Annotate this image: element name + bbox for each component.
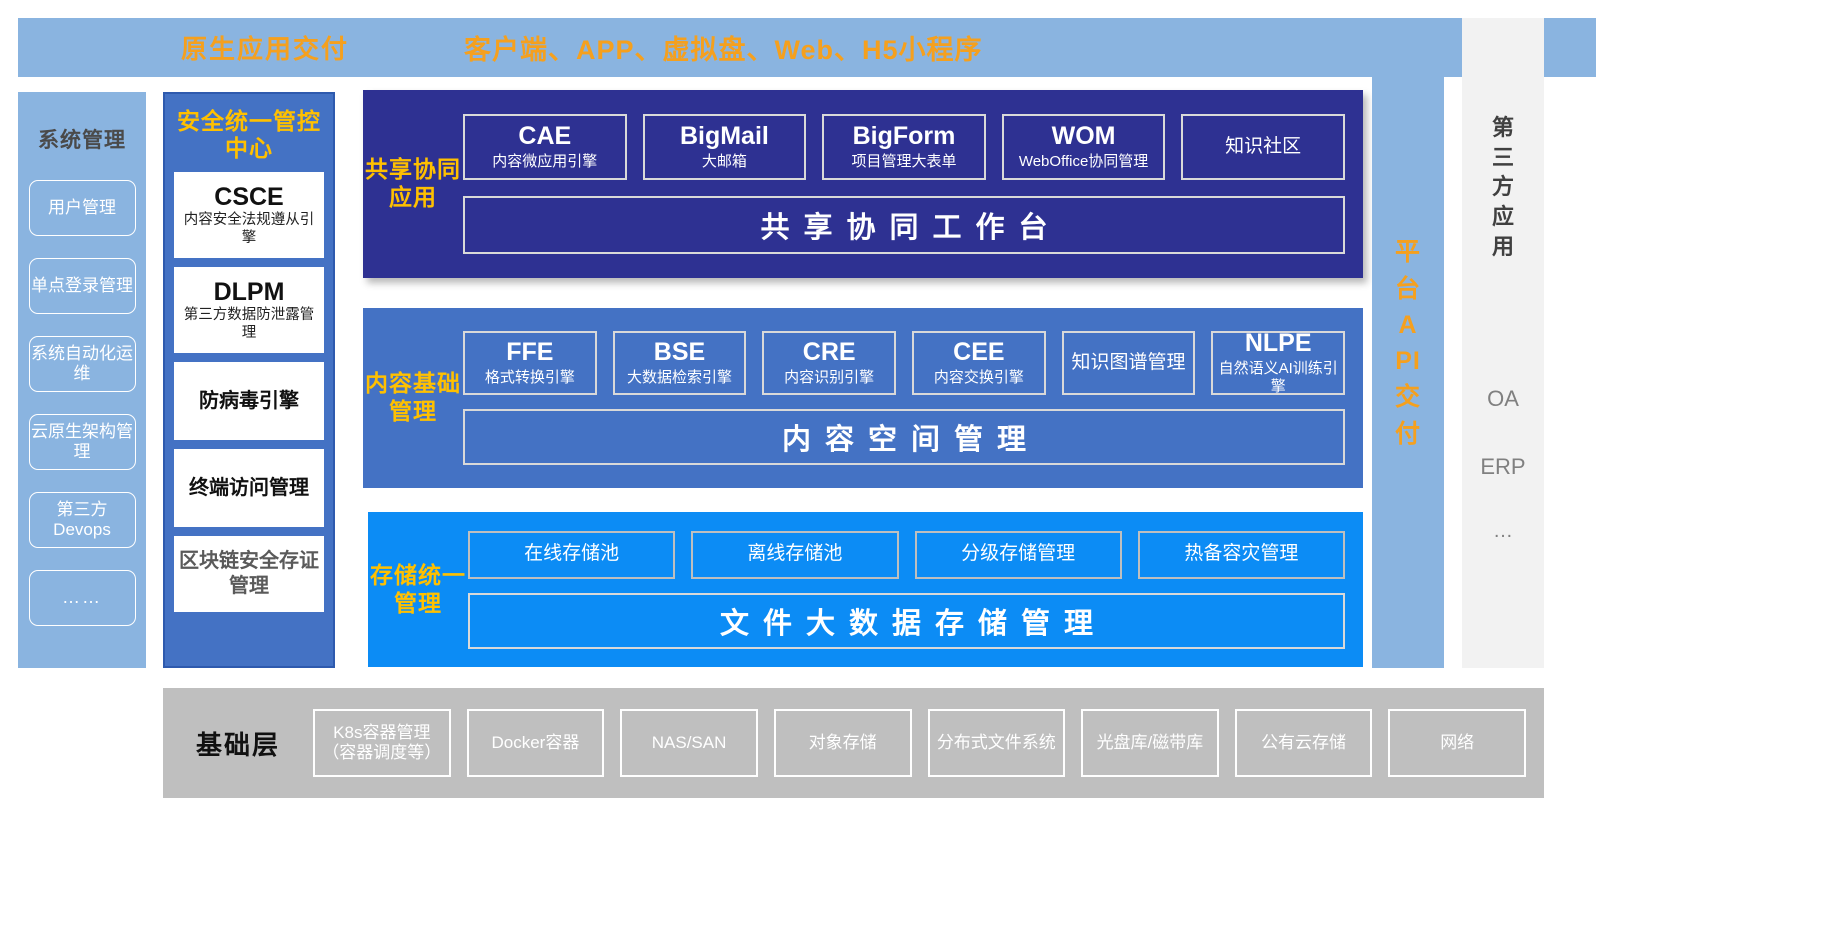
- third-party-item-more: …: [1493, 520, 1513, 543]
- system-management-column: 系统管理 用户管理 单点登录管理 系统自动化运维 云原生架构管理 第三方Devo…: [18, 92, 146, 668]
- infrastructure-chip-row: K8s容器管理（容器调度等） Docker容器 NAS/SAN 对象存储 分布式…: [313, 709, 1544, 777]
- third-party-column: 第三方应用 OA ERP …: [1462, 18, 1544, 668]
- sysmgmt-item-user[interactable]: 用户管理: [29, 180, 136, 236]
- chip-nlpe[interactable]: NLPE 自然语义AI训练引擎: [1211, 331, 1345, 395]
- shared-collaboration-layer: 共享协同应用 CAE 内容微应用引擎 BigMail 大邮箱 BigForm 项…: [363, 90, 1363, 278]
- chip-cae-desc: 内容微应用引擎: [492, 153, 597, 171]
- chip-ffe-code: FFE: [506, 339, 553, 367]
- infrastructure-row: 基础层 K8s容器管理（容器调度等） Docker容器 NAS/SAN 对象存储…: [163, 688, 1544, 798]
- chip-ffe[interactable]: FFE 格式转换引擎: [463, 331, 597, 395]
- content-foundation-layer: 内容基础管理 FFE 格式转换引擎 BSE 大数据检索引擎 CRE 内容识别引擎…: [363, 308, 1363, 488]
- chip-bigform-code: BigForm: [853, 123, 956, 151]
- security-control-title: 安全统一管控中心: [174, 108, 324, 162]
- chip-knowledge-community[interactable]: 知识社区: [1181, 114, 1345, 180]
- infra-chip-docker[interactable]: Docker容器: [467, 709, 605, 777]
- infra-chip-network[interactable]: 网络: [1388, 709, 1526, 777]
- chip-bigmail-code: BigMail: [680, 123, 769, 151]
- third-party-item-oa: OA: [1487, 386, 1519, 412]
- chip-cee-code: CEE: [953, 339, 1004, 367]
- platform-api-label: 平台API交付: [1391, 234, 1425, 452]
- content-foundation-label: 内容基础管理: [363, 308, 463, 488]
- chip-cae[interactable]: CAE 内容微应用引擎: [463, 114, 627, 180]
- chip-hot-standby-dr-label: 热备容灾管理: [1184, 543, 1298, 566]
- chip-offline-storage-pool-label: 离线存储池: [747, 543, 842, 566]
- chip-cre[interactable]: CRE 内容识别引擎: [762, 331, 896, 395]
- file-bigdata-storage-bar[interactable]: 文件大数据存储管理: [468, 593, 1345, 649]
- security-card-csce-desc: 内容安全法规遵从引擎: [178, 212, 320, 247]
- security-card-terminal-access-label: 终端访问管理: [189, 476, 309, 501]
- platform-api-column: 平台API交付: [1372, 18, 1444, 668]
- chip-online-storage-pool-label: 在线存储池: [524, 543, 619, 566]
- shared-collaboration-chip-row: CAE 内容微应用引擎 BigMail 大邮箱 BigForm 项目管理大表单 …: [463, 114, 1345, 180]
- security-card-dlpm-code: DLPM: [214, 279, 285, 307]
- infra-chip-object-storage[interactable]: 对象存储: [774, 709, 912, 777]
- delivery-channels: 客户端、APP、虚拟盘、Web、H5小程序: [464, 28, 983, 67]
- chip-cae-code: CAE: [518, 123, 571, 151]
- chip-bse-desc: 大数据检索引擎: [627, 369, 732, 387]
- security-card-dlpm[interactable]: DLPM 第三方数据防泄露管理: [174, 267, 324, 353]
- chip-nlpe-code: NLPE: [1245, 330, 1312, 358]
- infrastructure-title: 基础层: [163, 725, 313, 762]
- chip-cee-desc: 内容交换引擎: [934, 369, 1024, 387]
- third-party-title: 第三方应用: [1490, 113, 1516, 261]
- content-space-management-bar[interactable]: 内容空间管理: [463, 409, 1345, 465]
- security-card-blockchain[interactable]: 区块链安全存证管理: [174, 536, 324, 612]
- chip-bigmail-desc: 大邮箱: [702, 153, 747, 171]
- chip-bigform[interactable]: BigForm 项目管理大表单: [822, 114, 986, 180]
- chip-nlpe-desc: 自然语义AI训练引擎: [1216, 360, 1340, 396]
- sysmgmt-item-sso[interactable]: 单点登录管理: [29, 258, 136, 314]
- chip-tiered-storage[interactable]: 分级存储管理: [915, 531, 1122, 579]
- chip-online-storage-pool[interactable]: 在线存储池: [468, 531, 675, 579]
- system-management-title: 系统管理: [38, 124, 126, 154]
- security-card-terminal-access[interactable]: 终端访问管理: [174, 449, 324, 527]
- third-party-item-erp: ERP: [1480, 454, 1525, 480]
- storage-layer: 存储统一管理 在线存储池 离线存储池 分级存储管理 热备容灾管理 文件大数据存储…: [368, 512, 1363, 667]
- chip-bigform-desc: 项目管理大表单: [851, 153, 956, 171]
- storage-layer-label: 存储统一管理: [368, 512, 468, 667]
- chip-knowledge-graph[interactable]: 知识图谱管理: [1062, 331, 1196, 395]
- chip-knowledge-graph-label: 知识图谱管理: [1072, 352, 1186, 375]
- security-card-csce[interactable]: CSCE 内容安全法规遵从引擎: [174, 172, 324, 258]
- chip-hot-standby-dr[interactable]: 热备容灾管理: [1138, 531, 1345, 579]
- infra-chip-k8s[interactable]: K8s容器管理（容器调度等）: [313, 709, 451, 777]
- chip-cre-code: CRE: [803, 339, 856, 367]
- sysmgmt-item-automation[interactable]: 系统自动化运维: [29, 336, 136, 392]
- chip-bse-code: BSE: [654, 339, 705, 367]
- security-card-dlpm-desc: 第三方数据防泄露管理: [178, 307, 320, 342]
- infra-chip-nas-san[interactable]: NAS/SAN: [620, 709, 758, 777]
- security-card-antivirus[interactable]: 防病毒引擎: [174, 362, 324, 440]
- chip-wom[interactable]: WOM WebOffice协同管理: [1002, 114, 1166, 180]
- chip-bse[interactable]: BSE 大数据检索引擎: [613, 331, 747, 395]
- sysmgmt-item-more[interactable]: ……: [29, 570, 136, 626]
- storage-chip-row: 在线存储池 离线存储池 分级存储管理 热备容灾管理: [468, 531, 1345, 579]
- chip-wom-desc: WebOffice协同管理: [1019, 153, 1148, 171]
- infra-chip-optical-tape[interactable]: 光盘库/磁带库: [1081, 709, 1219, 777]
- sysmgmt-item-cloudnative[interactable]: 云原生架构管理: [29, 414, 136, 470]
- chip-bigmail[interactable]: BigMail 大邮箱: [643, 114, 807, 180]
- architecture-diagram: 原生应用交付 客户端、APP、虚拟盘、Web、H5小程序 系统管理 用户管理 单…: [0, 0, 1823, 928]
- delivery-banner: 原生应用交付 客户端、APP、虚拟盘、Web、H5小程序: [18, 18, 1596, 77]
- security-card-csce-code: CSCE: [214, 184, 283, 212]
- infra-chip-distributed-fs[interactable]: 分布式文件系统: [928, 709, 1066, 777]
- delivery-label: 原生应用交付: [181, 29, 349, 66]
- sysmgmt-item-devops[interactable]: 第三方Devops: [29, 492, 136, 548]
- security-control-column: 安全统一管控中心 CSCE 内容安全法规遵从引擎 DLPM 第三方数据防泄露管理…: [163, 92, 335, 668]
- security-card-antivirus-label: 防病毒引擎: [199, 389, 299, 414]
- content-foundation-chip-row: FFE 格式转换引擎 BSE 大数据检索引擎 CRE 内容识别引擎 CEE 内容…: [463, 331, 1345, 395]
- chip-offline-storage-pool[interactable]: 离线存储池: [691, 531, 898, 579]
- shared-collaboration-workbench-bar[interactable]: 共享协同工作台: [463, 196, 1345, 254]
- chip-wom-code: WOM: [1052, 123, 1116, 151]
- chip-tiered-storage-label: 分级存储管理: [961, 543, 1075, 566]
- chip-cee[interactable]: CEE 内容交换引擎: [912, 331, 1046, 395]
- chip-cre-desc: 内容识别引擎: [784, 369, 874, 387]
- security-card-blockchain-label: 区块链安全存证管理: [178, 549, 320, 599]
- chip-ffe-desc: 格式转换引擎: [485, 369, 575, 387]
- chip-knowledge-community-label: 知识社区: [1225, 136, 1301, 159]
- infra-chip-public-cloud[interactable]: 公有云存储: [1235, 709, 1373, 777]
- shared-collaboration-label: 共享协同应用: [363, 90, 463, 278]
